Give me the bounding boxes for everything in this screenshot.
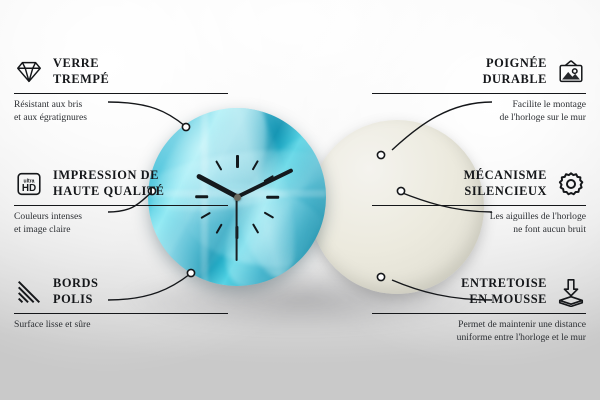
infographic-canvas: VERRE TREMPÉ Résistant aux bris et aux é… bbox=[0, 0, 600, 400]
feature-title-line2: HAUTE QUALITÉ bbox=[53, 184, 164, 198]
feature-divider bbox=[14, 313, 228, 314]
feature-desc-line1: Surface lisse et sûre bbox=[14, 319, 90, 330]
feature-title-line1: BORDS bbox=[53, 276, 98, 290]
feature-callout-impression-haute-qualite[interactable]: ultra HD IMPRESSION DE HAUTE QUALITÉ Cou… bbox=[14, 168, 228, 237]
feature-divider bbox=[372, 205, 586, 206]
feature-callout-mecanisme-silencieux[interactable]: MÉCANISME SILENCIEUX Les aiguilles de l'… bbox=[372, 168, 586, 237]
feature-title-line1: ENTRETOISE bbox=[461, 276, 547, 290]
feature-desc-line1: Couleurs intenses bbox=[14, 211, 82, 222]
foam-spacer-arrow-icon bbox=[556, 277, 586, 307]
clock-second-hand bbox=[236, 197, 238, 261]
ultra-hd-main-text: HD bbox=[22, 183, 36, 194]
feature-title-line2: TREMPÉ bbox=[53, 72, 109, 86]
feature-divider bbox=[14, 205, 228, 206]
diamond-icon bbox=[14, 57, 44, 87]
feature-title-line1: MÉCANISME bbox=[464, 168, 547, 182]
feature-desc-line1: Permet de maintenir une distance bbox=[458, 319, 586, 330]
feature-title-line2: EN MOUSSE bbox=[469, 292, 547, 306]
feature-divider bbox=[14, 93, 228, 94]
feature-divider bbox=[372, 93, 586, 94]
polished-edges-icon bbox=[14, 277, 44, 307]
feature-desc-line2: uniforme entre l'horloge et le mur bbox=[457, 332, 586, 343]
feature-desc-line1: Les aiguilles de l'horloge bbox=[490, 211, 586, 222]
feature-desc-line1: Facilite le montage bbox=[512, 99, 586, 110]
ultra-hd-badge-icon: ultra HD bbox=[14, 169, 44, 199]
gear-icon bbox=[556, 169, 586, 199]
feature-title-line2: POLIS bbox=[53, 292, 93, 306]
feature-title-line1: VERRE bbox=[53, 56, 99, 70]
feature-desc-line2: et image claire bbox=[14, 224, 70, 235]
feature-callout-poignee-durable[interactable]: POIGNÉE DURABLE Facilite le montage de l… bbox=[372, 56, 586, 125]
feature-callout-entretoise-en-mousse[interactable]: ENTRETOISE EN MOUSSE Permet de maintenir… bbox=[372, 276, 586, 345]
feature-callout-verre-trempe[interactable]: VERRE TREMPÉ Résistant aux bris et aux é… bbox=[14, 56, 228, 125]
feature-desc-line1: Résistant aux bris bbox=[14, 99, 82, 110]
feature-desc-line2: et aux égratignures bbox=[14, 112, 87, 123]
feature-desc-line2: ne font aucun bruit bbox=[513, 224, 586, 235]
clock-center-cap bbox=[234, 194, 241, 201]
feature-title-line2: SILENCIEUX bbox=[464, 184, 547, 198]
hanging-frame-icon bbox=[556, 57, 586, 87]
feature-divider bbox=[372, 313, 586, 314]
feature-title-line1: POIGNÉE bbox=[486, 56, 547, 70]
feature-callout-bords-polis[interactable]: BORDS POLIS Surface lisse et sûre bbox=[14, 276, 228, 332]
feature-title-line2: DURABLE bbox=[483, 72, 547, 86]
feature-title-line1: IMPRESSION DE bbox=[53, 168, 159, 182]
feature-desc-line2: de l'horloge sur le mur bbox=[500, 112, 586, 123]
